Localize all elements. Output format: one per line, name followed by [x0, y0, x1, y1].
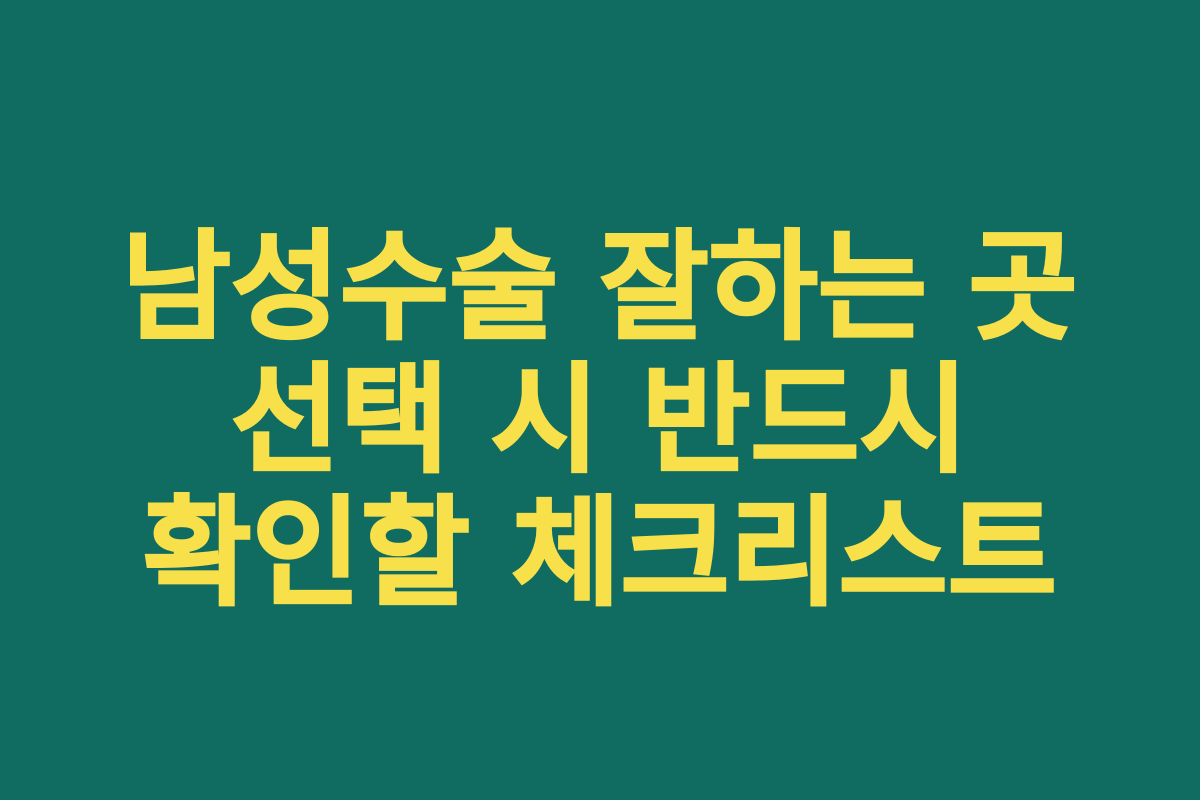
title-banner: 남성수술 잘하는 곳 선택 시 반드시 확인할 체크리스트	[0, 0, 1200, 800]
title-block: 남성수술 잘하는 곳 선택 시 반드시 확인할 체크리스트	[120, 221, 1080, 620]
banner-title: 남성수술 잘하는 곳 선택 시 반드시 확인할 체크리스트	[120, 221, 1080, 620]
